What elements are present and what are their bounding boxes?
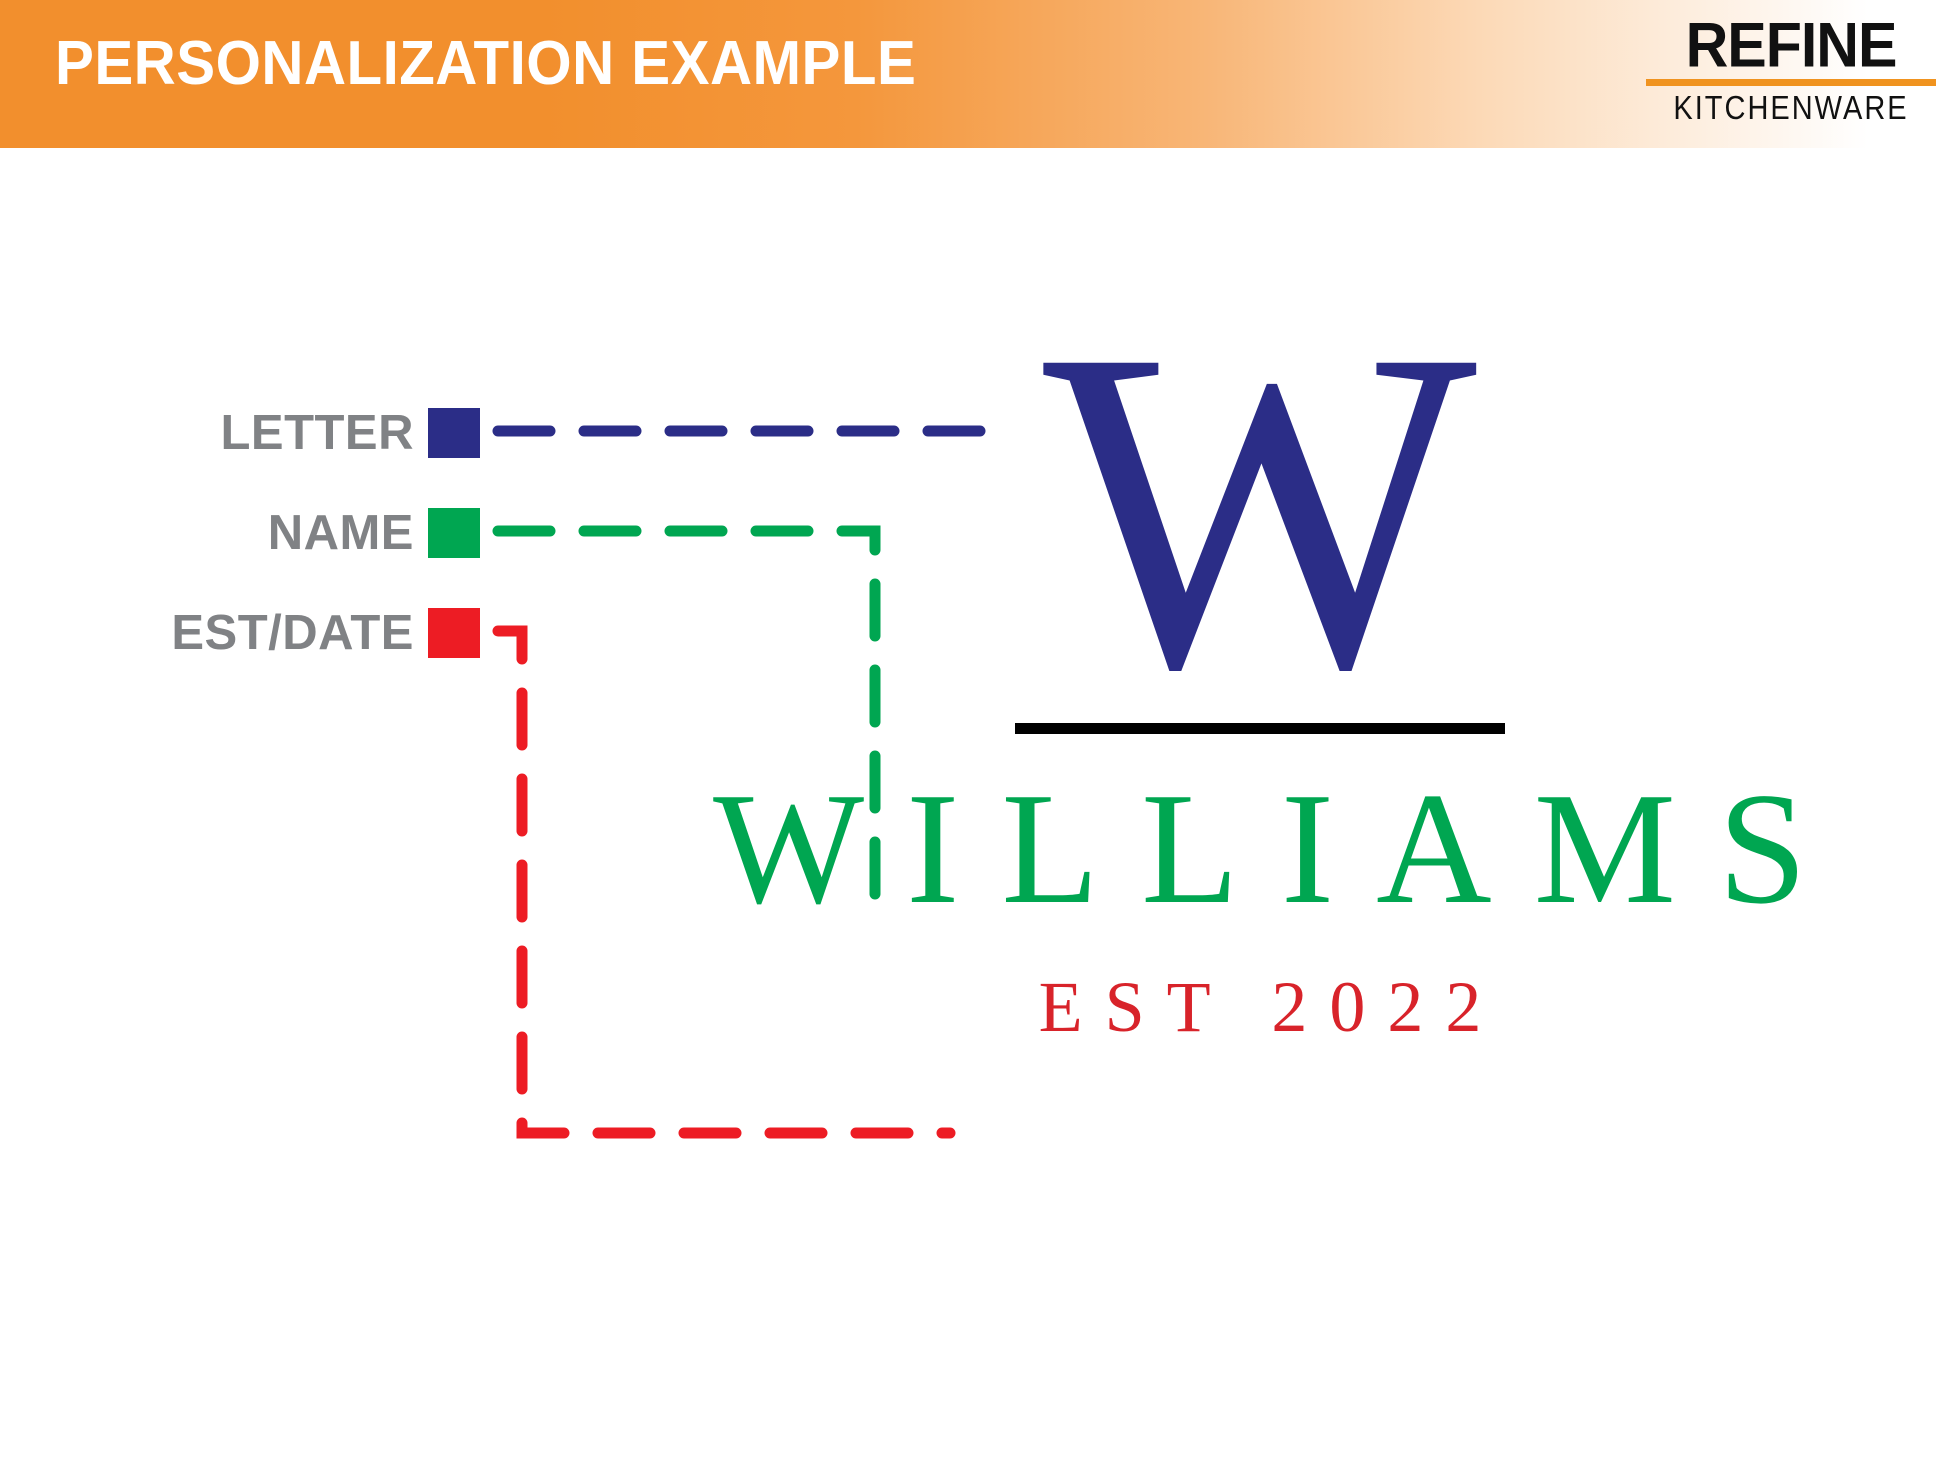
legend-label-estdate: EST/DATE bbox=[171, 605, 414, 661]
letter-color-swatch bbox=[428, 408, 480, 458]
legend-label-name: NAME bbox=[268, 505, 414, 561]
estdate-color-swatch bbox=[428, 608, 480, 658]
legend-label-letter: LETTER bbox=[220, 405, 414, 461]
monogram-established: EST 2022 bbox=[615, 966, 1905, 1049]
legend-item-name: NAME bbox=[60, 505, 480, 561]
monogram-initial: W bbox=[615, 330, 1905, 689]
page-title: PERSONALIZATION EXAMPLE bbox=[55, 28, 916, 99]
monogram-artwork: W WILLIAMS EST 2022 bbox=[615, 330, 1905, 1049]
legend-item-letter: LETTER bbox=[60, 405, 480, 461]
brand-logo: REFINE KITCHENWARE bbox=[1646, 18, 1936, 123]
brand-subtitle: KITCHENWARE bbox=[1646, 90, 1936, 128]
brand-name: REFINE bbox=[1643, 16, 1939, 76]
legend-item-estdate: EST/DATE bbox=[60, 605, 480, 661]
monogram-surname: WILLIAMS bbox=[615, 764, 1905, 932]
name-color-swatch bbox=[428, 508, 480, 558]
